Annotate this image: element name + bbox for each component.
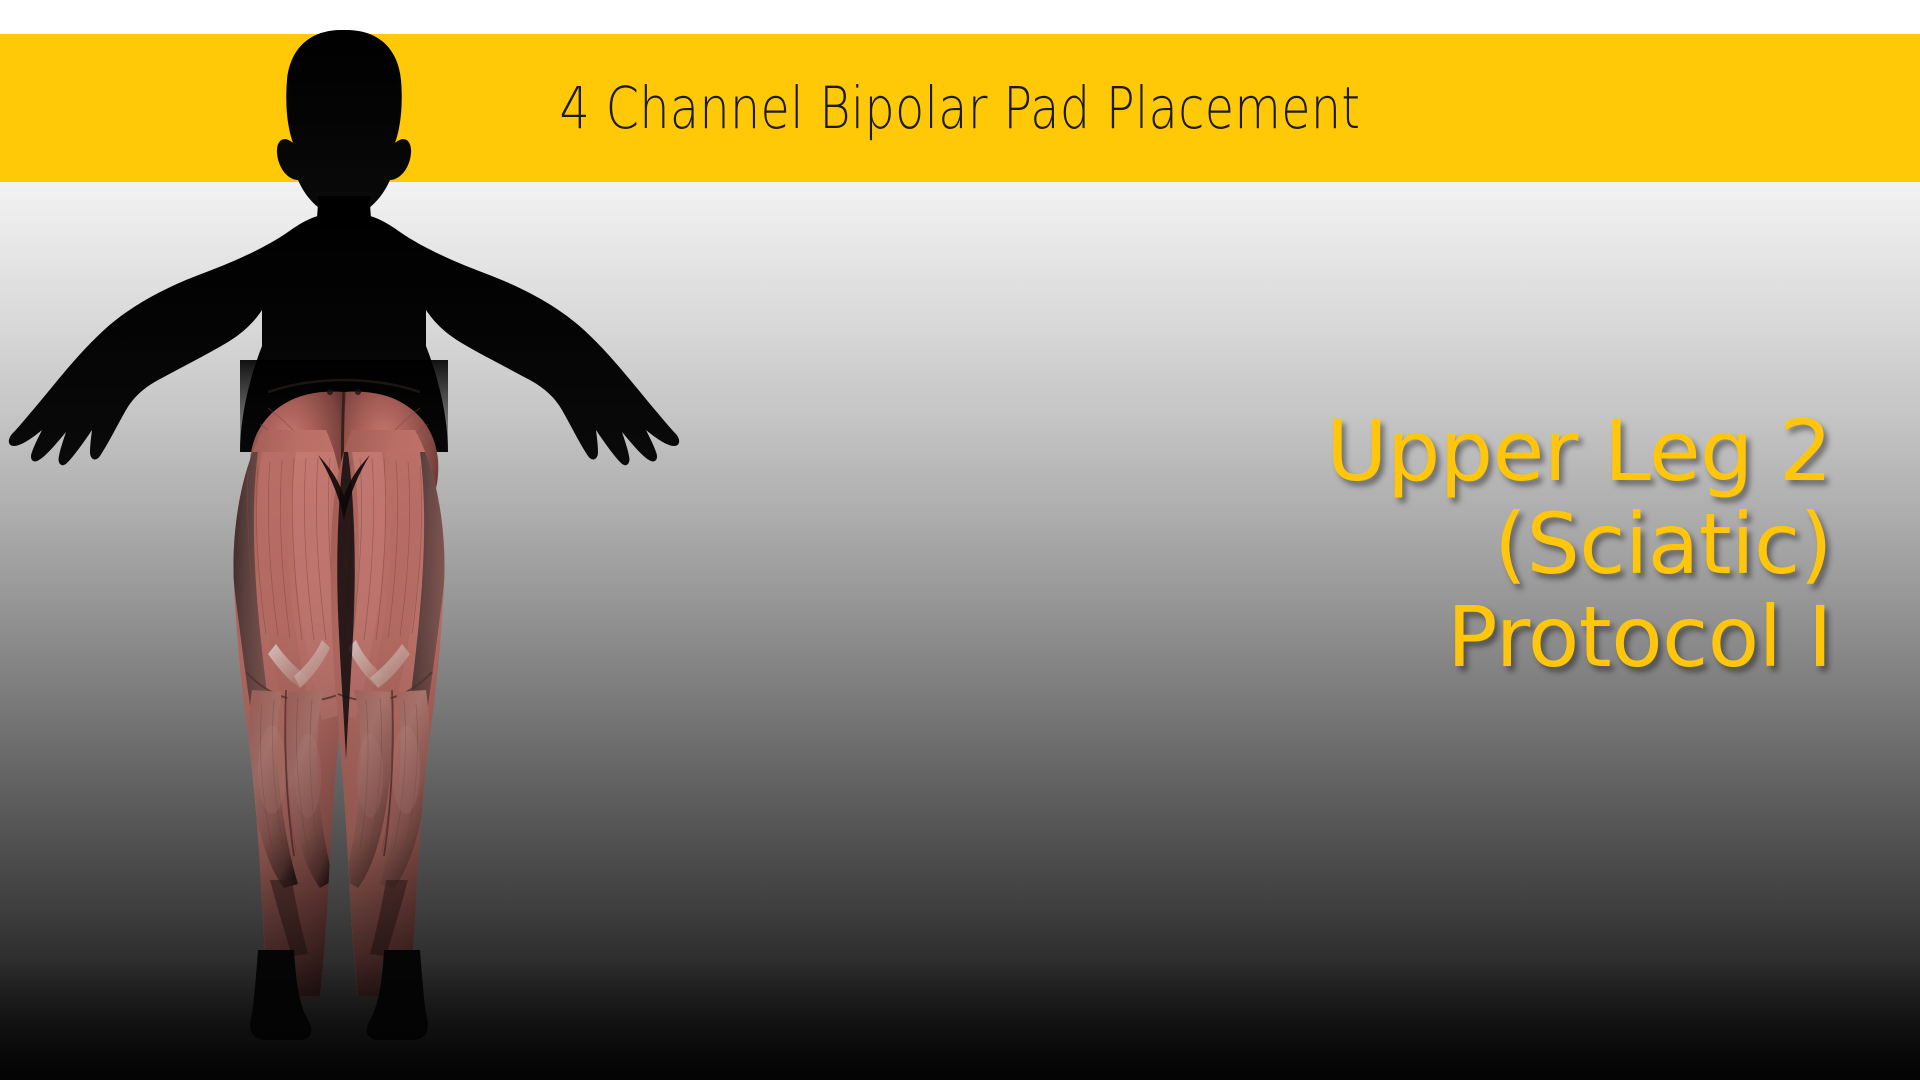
slide-canvas: 4 Channel Bipolar Pad Placement Upper Le… [0,0,1920,1080]
protocol-title-line-1: Upper Leg 2 [932,405,1832,498]
protocol-title-line-2: (Sciatic) [932,498,1832,591]
feet-silhouette [250,950,428,1040]
protocol-title-block: Upper Leg 2 (Sciatic) Protocol I [932,405,1832,684]
human-body-figure [0,0,780,1080]
protocol-title-line-3: Protocol I [932,591,1832,684]
